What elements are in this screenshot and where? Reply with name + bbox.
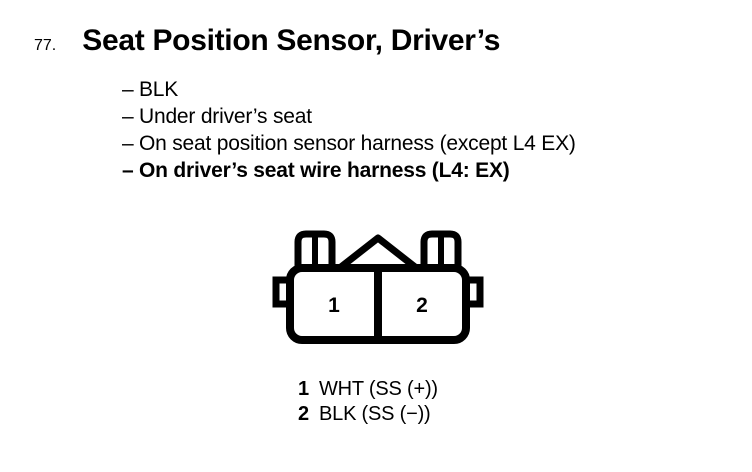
list-item-label: BLK xyxy=(139,76,178,103)
list-item-label: Under driver’s seat xyxy=(139,103,312,130)
list-item: – On driver’s seat wire harness (L4: EX) xyxy=(122,157,722,184)
pin-cavity-2-label: 2 xyxy=(416,294,428,317)
legend-row: 2 BLK (SS (−)) xyxy=(298,402,558,427)
legend-pin-description: WHT (SS (+)) xyxy=(319,377,438,402)
spec-list: – BLK – Under driver’s seat – On seat po… xyxy=(122,76,722,184)
list-item: – BLK xyxy=(122,76,722,103)
pin-cavity-1-label: 1 xyxy=(328,294,340,317)
list-dash-icon: – xyxy=(122,157,139,184)
list-item: – On seat position sensor harness (excep… xyxy=(122,130,722,157)
list-dash-icon: – xyxy=(122,103,139,130)
entry-number: 77. xyxy=(34,37,56,55)
legend-pin-number: 1 xyxy=(298,377,319,402)
list-item-label: On driver’s seat wire harness (L4: EX) xyxy=(139,157,510,184)
legend-pin-description: BLK (SS (−)) xyxy=(319,402,431,427)
list-dash-icon: – xyxy=(122,130,139,157)
list-dash-icon: – xyxy=(122,76,139,103)
connector-illustration: 1 2 xyxy=(268,222,488,350)
legend-pin-number: 2 xyxy=(298,402,319,427)
legend-row: 1 WHT (SS (+)) xyxy=(298,377,558,402)
entry-title: Seat Position Sensor, Driver’s xyxy=(82,24,500,58)
list-item: – Under driver’s seat xyxy=(122,103,722,130)
connector-diagram: 1 2 xyxy=(268,222,488,350)
list-item-label: On seat position sensor harness (except … xyxy=(139,130,576,157)
pin-legend: 1 WHT (SS (+)) 2 BLK (SS (−)) xyxy=(298,377,558,427)
page-title: 77. Seat Position Sensor, Driver’s xyxy=(34,24,724,64)
